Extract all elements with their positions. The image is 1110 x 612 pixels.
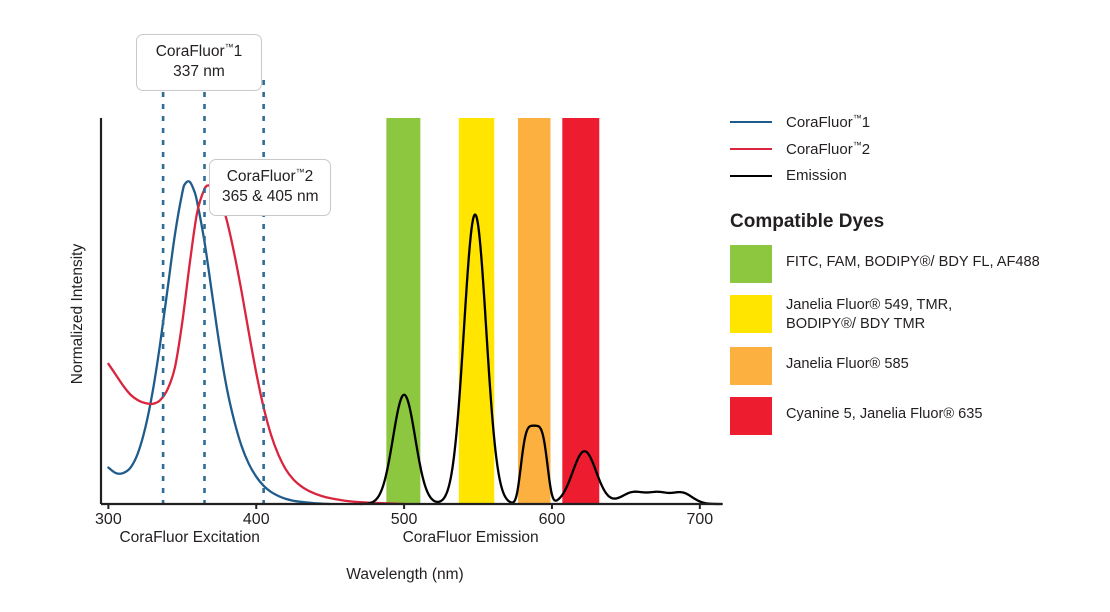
dye-label-line1-3: Janelia Fluor® 585 [786,355,909,374]
curve-excitation-1 [108,181,330,504]
legend-row-2: CoraFluor™2 [730,135,1100,162]
compatible-dyes-list: FITC, FAM, BODIPY®/ BDY FL, AF488Janelia… [730,245,1100,435]
dye-swatch-4 [730,397,772,435]
x-tick-label-600: 600 [522,511,582,529]
dye-swatch-3 [730,347,772,385]
legend-line-swatch-2 [730,148,772,150]
red-band [562,118,599,504]
y-axis-title: Normalized Intensity [69,214,87,414]
dye-label-3: Janelia Fluor® 585 [786,347,909,374]
dye-swatch-2 [730,295,772,333]
legend-line-label-1: CoraFluor™1 [786,113,870,131]
legend-line-label-2: CoraFluor™2 [786,140,870,158]
compatible-dyes-title: Compatible Dyes [730,211,1100,233]
dye-label-2: Janelia Fluor® 549, TMR,BODIPY®/ BDY TMR [786,295,952,335]
dye-label-4: Cyanine 5, Janelia Fluor® 635 [786,397,983,424]
legend-row-3: Emission [730,162,1100,189]
legend-series-list: CoraFluor™1CoraFluor™2Emission [730,108,1100,189]
legend-label-tm-1: ™ [853,113,862,123]
callout-2-line1: CoraFluor™2 [222,167,318,187]
legend-label-base-1: CoraFluor [786,114,853,131]
legend-label-suffix-2: 2 [862,141,870,158]
axis-region-label-1: CoraFluor Excitation [50,529,330,547]
x-tick-label-700: 700 [670,511,730,529]
spectra-figure: CoraFluor™1 337 nm CoraFluor™2 365 & 405… [0,0,1110,612]
legend-label-suffix-1: 1 [862,114,870,131]
x-tick-label-400: 400 [226,511,286,529]
dye-row-4: Cyanine 5, Janelia Fluor® 635 [730,397,1100,435]
callout-corafluor2: CoraFluor™2 365 & 405 nm [209,159,331,216]
x-tick-label-500: 500 [374,511,434,529]
callout-corafluor1: CoraFluor™1 337 nm [136,34,262,91]
legend-line-label-3: Emission [786,167,847,184]
callout-1-line2: 337 nm [149,62,249,82]
dye-label-line1-1: FITC, FAM, BODIPY®/ BDY FL, AF488 [786,253,1040,272]
dye-label-line1-4: Cyanine 5, Janelia Fluor® 635 [786,405,983,424]
x-axis-title: Wavelength (nm) [0,566,810,584]
callout-1-line1: CoraFluor™1 [149,42,249,62]
dye-label-line2-2: BODIPY®/ BDY TMR [786,315,952,334]
dye-row-3: Janelia Fluor® 585 [730,347,1100,385]
callout-2-line2: 365 & 405 nm [222,187,318,207]
legend-row-1: CoraFluor™1 [730,108,1100,135]
legend-label-base-2: CoraFluor [786,141,853,158]
legend-line-swatch-1 [730,121,772,123]
axis-region-label-2: CoraFluor Emission [331,529,611,547]
legend-label-tm-2: ™ [853,140,862,150]
legend-label-base-3: Emission [786,167,847,184]
legend-line-swatch-3 [730,175,772,177]
dye-label-line1-2: Janelia Fluor® 549, TMR, [786,296,952,315]
dye-label-1: FITC, FAM, BODIPY®/ BDY FL, AF488 [786,245,1040,272]
dye-row-1: FITC, FAM, BODIPY®/ BDY FL, AF488 [730,245,1100,283]
dye-swatch-1 [730,245,772,283]
curve-excitation-2 [108,185,404,504]
legend: CoraFluor™1CoraFluor™2Emission Compatibl… [730,108,1100,435]
x-tick-label-300: 300 [78,511,138,529]
dye-row-2: Janelia Fluor® 549, TMR,BODIPY®/ BDY TMR [730,295,1100,335]
